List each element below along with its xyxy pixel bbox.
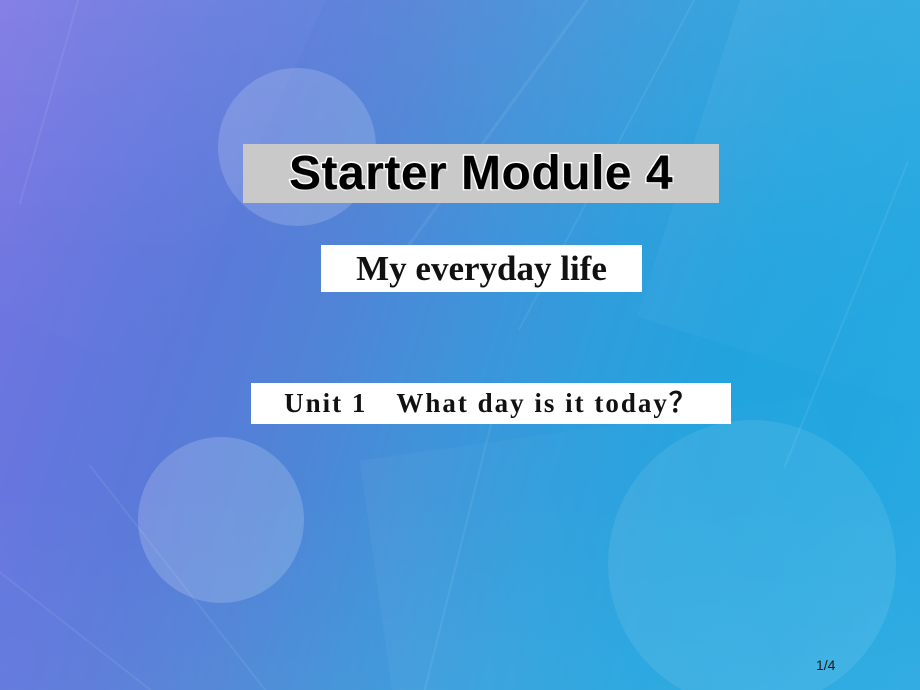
subtitle-banner: My everyday life — [321, 245, 642, 292]
module-title: Starter Module 4 — [289, 150, 673, 198]
slide-subtitle: My everyday life — [356, 251, 607, 286]
slide-background-tint — [0, 0, 920, 690]
unit-banner: Unit 1 What day is it today？ — [251, 383, 731, 424]
unit-heading: Unit 1 What day is it today？ — [284, 390, 698, 417]
presentation-slide: Starter Module 4 My everyday life Unit 1… — [0, 0, 920, 690]
page-indicator: 1/4 — [816, 657, 835, 673]
module-title-banner: Starter Module 4 — [243, 144, 719, 203]
